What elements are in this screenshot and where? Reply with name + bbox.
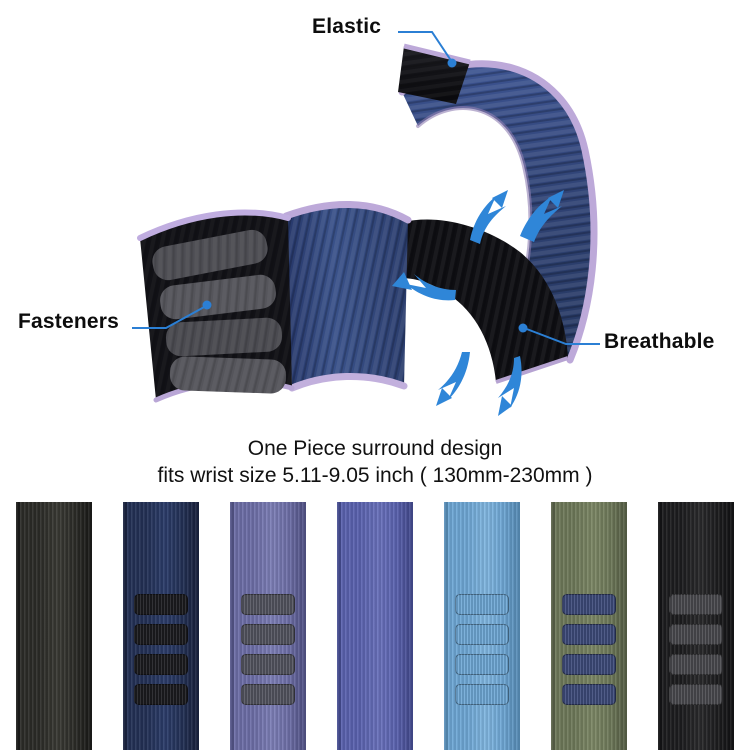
swatch-weave-texture (337, 502, 413, 750)
callout-label-breathable: Breathable (604, 330, 715, 354)
swatch-fastener-block-texture (241, 594, 295, 615)
swatch-fastener-block-texture (669, 654, 723, 675)
swatch-fastener-block-texture (241, 654, 295, 675)
swatch-fastener-block-texture (134, 594, 188, 615)
swatch-fastener-block-texture (241, 684, 295, 705)
swatch-periwinkle-purple[interactable] (230, 502, 306, 750)
callout-label-elastic: Elastic (312, 15, 381, 39)
swatch-black-olive[interactable] (16, 502, 92, 750)
swatch-fastener-block-texture (562, 684, 616, 705)
swatch-fastener-block-texture (241, 624, 295, 645)
swatch-army-green-stripe[interactable] (551, 502, 627, 750)
swatch-fastener-block-texture (669, 594, 723, 615)
swatch-fastener-block-texture (562, 654, 616, 675)
swatch-fastener-block-texture (134, 654, 188, 675)
callout-leader-lines (0, 0, 750, 500)
swatch-fastener-block-texture (562, 594, 616, 615)
swatch-fastener-block-texture (669, 624, 723, 645)
swatch-fastener-block-texture (455, 654, 509, 675)
swatch-navy-blue[interactable] (123, 502, 199, 750)
swatch-fastener-block-texture (455, 594, 509, 615)
color-swatch-strip (0, 502, 750, 750)
swatch-sky-blue[interactable] (444, 502, 520, 750)
swatch-fastener-block-texture (669, 684, 723, 705)
swatch-fastener-block-texture (134, 624, 188, 645)
callout-label-fasteners: Fasteners (18, 310, 119, 334)
swatch-weave-texture (16, 502, 92, 750)
caption-line-2: fits wrist size 5.11-9.05 inch ( 130mm-2… (0, 464, 750, 488)
swatch-fastener-block-texture (562, 624, 616, 645)
swatch-fastener-block-texture (455, 624, 509, 645)
swatch-violet-blue[interactable] (337, 502, 413, 750)
caption-line-1: One Piece surround design (0, 437, 750, 461)
swatch-fastener-block-texture (134, 684, 188, 705)
product-feature-image: Elastic Fasteners Breathable One Piece s… (0, 0, 750, 750)
swatch-fastener-block-texture (455, 684, 509, 705)
swatch-black[interactable] (658, 502, 734, 750)
